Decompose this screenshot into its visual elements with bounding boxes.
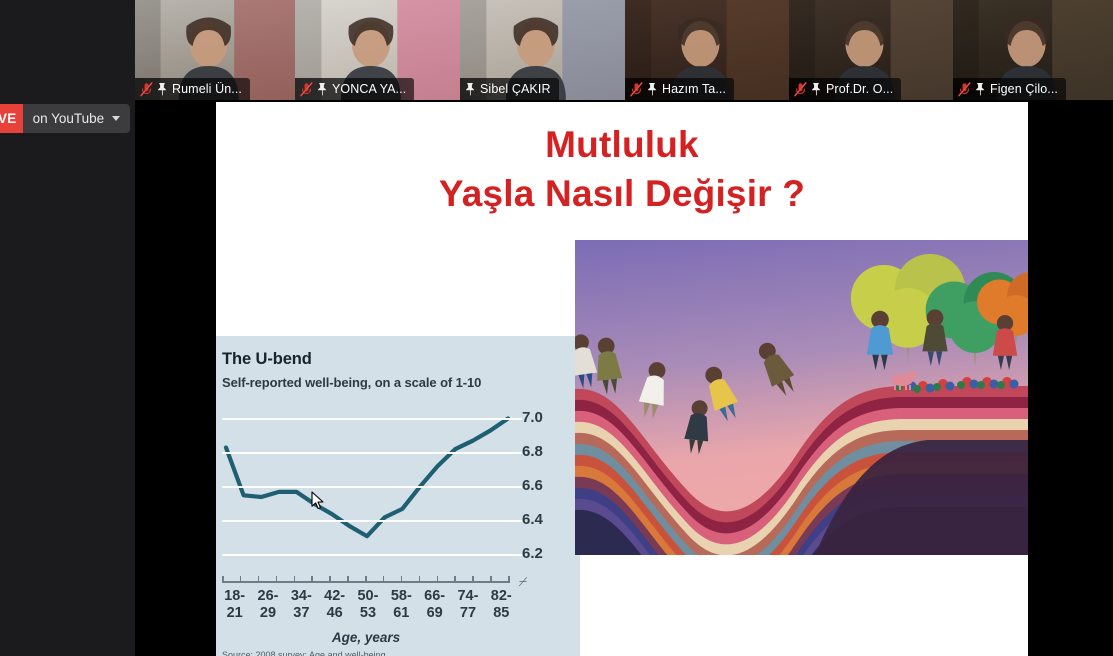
x-tick-mark [383, 576, 385, 583]
chart-gridline [222, 452, 514, 454]
pin-icon [811, 82, 822, 96]
x-tick-mark [311, 576, 313, 583]
participant-tile[interactable]: Sibel ÇAKIR [460, 0, 625, 100]
live-stream-badge[interactable]: VE on YouTube [0, 104, 130, 133]
participant-name: YONCA YA... [332, 82, 406, 96]
x-tick-mark [240, 576, 242, 583]
microphone-muted-icon [140, 82, 153, 97]
shared-screen-stage: Mutluluk Yaşla Nasıl Değişir ? The U-ben… [135, 100, 1113, 656]
chart-source-note: Source: 2008 survey; Age and well-being [222, 650, 386, 656]
chart-line-series [222, 410, 514, 572]
chart-x-tick-labels: 18-2126-2934-3742-4650-5358-6166-6974-77… [218, 588, 518, 622]
x-tick-label: 18-21 [218, 588, 251, 622]
y-tick-mark [514, 452, 522, 454]
x-tick-mark [347, 576, 349, 583]
x-tick-label: 82-85 [485, 588, 518, 622]
participant-tile[interactable]: Prof.Dr. O... [789, 0, 953, 100]
participant-name-bar: YONCA YA... [295, 78, 414, 100]
participant-name-bar: Prof.Dr. O... [789, 78, 901, 100]
y-tick-label: 6.2 [522, 545, 543, 562]
x-tick-label: 26-29 [251, 588, 284, 622]
x-tick-label: 50-53 [351, 588, 384, 622]
participant-name: Hazım Ta... [662, 82, 726, 96]
chart-gridline [222, 520, 514, 522]
participant-tile[interactable]: Figen Çilo... [953, 0, 1113, 100]
pin-icon [975, 82, 986, 96]
x-label-bottom: 29 [251, 605, 284, 622]
x-label-top: 42- [318, 588, 351, 605]
microphone-muted-icon [630, 82, 643, 97]
x-label-bottom: 37 [285, 605, 318, 622]
x-label-top: 82- [485, 588, 518, 605]
x-label-bottom: 53 [351, 605, 384, 622]
chart-title: The U-bend [222, 350, 312, 369]
pin-icon [465, 82, 476, 96]
participant-tile[interactable]: Rumeli Ün... [135, 0, 295, 100]
x-tick-mark [472, 576, 474, 583]
chart-gridline [222, 486, 514, 488]
participant-name: Figen Çilo... [990, 82, 1058, 96]
participant-name-bar: Sibel ÇAKIR [460, 78, 559, 100]
x-tick-mark [365, 576, 367, 583]
participant-tile[interactable]: Hazım Ta... [625, 0, 789, 100]
x-label-top: 50- [351, 588, 384, 605]
x-tick-label: 34-37 [285, 588, 318, 622]
x-label-bottom: 69 [418, 605, 451, 622]
participant-name-bar: Hazım Ta... [625, 78, 734, 100]
y-tick-label: 6.8 [522, 443, 543, 460]
x-label-bottom: 85 [485, 605, 518, 622]
participant-tile[interactable]: YONCA YA... [295, 0, 460, 100]
x-tick-label: 74-77 [451, 588, 484, 622]
x-tick-mark [222, 576, 224, 583]
x-label-bottom: 21 [218, 605, 251, 622]
slide-title-line2: Yaşla Nasıl Değişir ? [216, 169, 1028, 218]
zoom-window: Rumeli Ün...YONCA YA...Sibel ÇAKIRHazım … [0, 0, 1113, 656]
x-tick-mark [294, 576, 296, 583]
y-tick-mark [514, 520, 522, 522]
x-tick-label: 66-69 [418, 588, 451, 622]
participant-name-bar: Rumeli Ün... [135, 78, 250, 100]
x-label-bottom: 61 [385, 605, 418, 622]
participant-name: Prof.Dr. O... [826, 82, 893, 96]
y-tick-label: 6.6 [522, 477, 543, 494]
microphone-muted-icon [958, 82, 971, 97]
y-tick-mark [514, 418, 522, 420]
live-chip-label: VE [0, 104, 23, 133]
participant-name: Rumeli Ün... [172, 82, 242, 96]
pin-icon [647, 82, 658, 96]
x-tick-mark [454, 576, 456, 583]
x-label-bottom: 77 [451, 605, 484, 622]
live-platform-label: on YouTube [23, 111, 113, 126]
x-label-top: 74- [451, 588, 484, 605]
slide-title-line1: Mutluluk [545, 124, 699, 165]
x-label-top: 34- [285, 588, 318, 605]
x-label-top: 26- [251, 588, 284, 605]
chevron-down-icon[interactable] [112, 116, 120, 121]
x-tick-label: 58-61 [385, 588, 418, 622]
chart-gridline [222, 418, 514, 420]
x-label-top: 58- [385, 588, 418, 605]
chart-plot-area: 7.06.86.66.46.2 [222, 410, 514, 572]
x-tick-mark [490, 576, 492, 583]
chart-x-axis-title: Age, years [216, 630, 516, 645]
axis-break-icon: ⌿ [518, 574, 526, 590]
y-tick-label: 7.0 [522, 409, 543, 426]
microphone-muted-icon [300, 82, 313, 97]
x-tick-mark [437, 576, 439, 583]
y-tick-label: 6.4 [522, 511, 543, 528]
x-tick-mark [276, 576, 278, 583]
x-tick-mark [258, 576, 260, 583]
x-tick-mark [508, 576, 510, 583]
x-label-top: 18- [218, 588, 251, 605]
chart-gridline [222, 554, 514, 556]
chart-x-axis [222, 576, 508, 584]
slide-title: Mutluluk Yaşla Nasıl Değişir ? [216, 120, 1028, 218]
participant-name-bar: Figen Çilo... [953, 78, 1066, 100]
x-tick-label: 42-46 [318, 588, 351, 622]
u-bend-illustration-art [575, 240, 1028, 555]
participant-name: Sibel ÇAKIR [480, 82, 551, 96]
y-tick-mark [514, 486, 522, 488]
presentation-slide: Mutluluk Yaşla Nasıl Değişir ? The U-ben… [216, 102, 1028, 656]
x-tick-mark [401, 576, 403, 583]
u-bend-illustration [575, 240, 1028, 555]
y-tick-mark [514, 554, 522, 556]
microphone-muted-icon [794, 82, 807, 97]
u-bend-chart: The U-bend Self-reported well-being, on … [216, 336, 580, 656]
x-tick-mark [329, 576, 331, 583]
pin-icon [317, 82, 328, 96]
x-label-bottom: 46 [318, 605, 351, 622]
pin-icon [157, 82, 168, 96]
participant-filmstrip: Rumeli Ün...YONCA YA...Sibel ÇAKIRHazım … [135, 0, 1113, 100]
x-tick-mark [419, 576, 421, 583]
chart-subtitle: Self-reported well-being, on a scale of … [222, 375, 481, 390]
x-label-top: 66- [418, 588, 451, 605]
